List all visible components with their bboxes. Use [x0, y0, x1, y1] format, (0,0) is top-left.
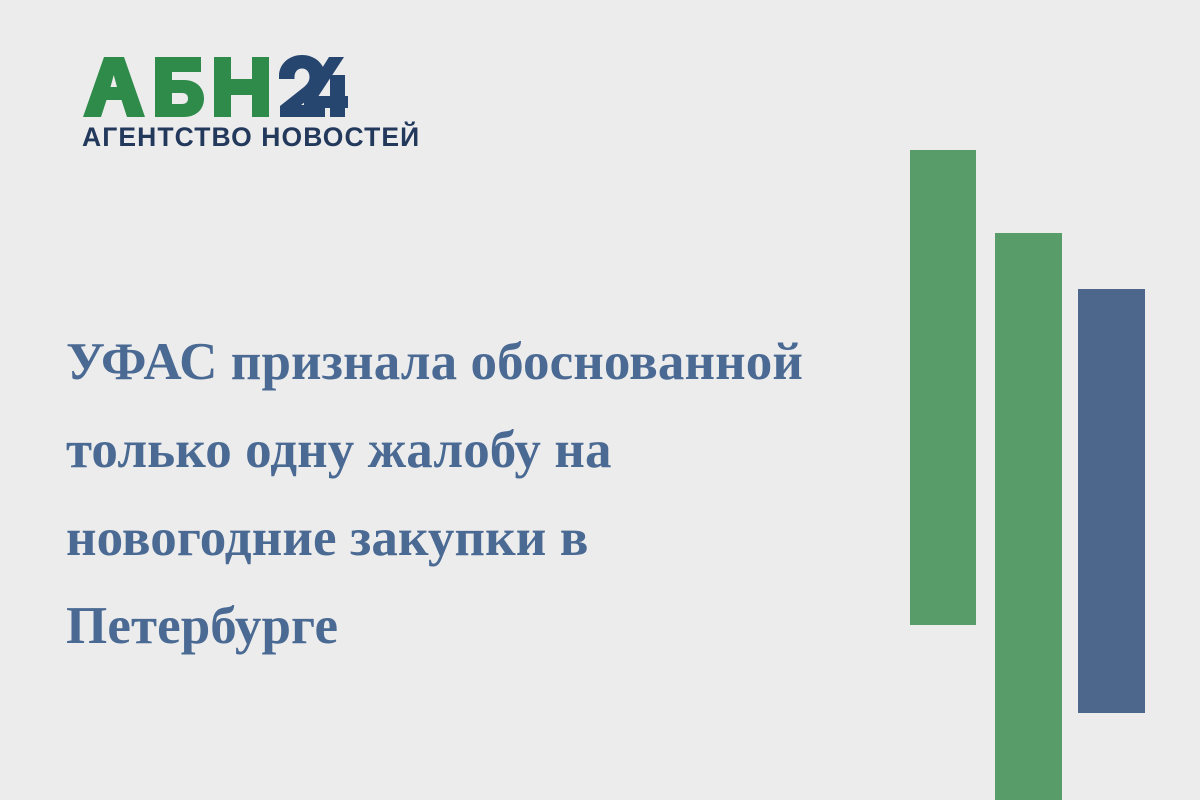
news-card: АГЕНТСТВО НОВОСТЕЙ УФАС признала обоснов… [0, 0, 1200, 800]
bar-1 [910, 150, 976, 625]
bar-3 [1078, 289, 1145, 713]
bar-2 [995, 233, 1062, 800]
logo-tagline: АГЕНТСТВО НОВОСТЕЙ [82, 124, 370, 151]
logo-wordmark-icon [80, 55, 348, 117]
headline: УФАС признала обоснованной только одну ж… [66, 318, 866, 670]
logo[interactable]: АГЕНТСТВО НОВОСТЕЙ [80, 55, 370, 151]
